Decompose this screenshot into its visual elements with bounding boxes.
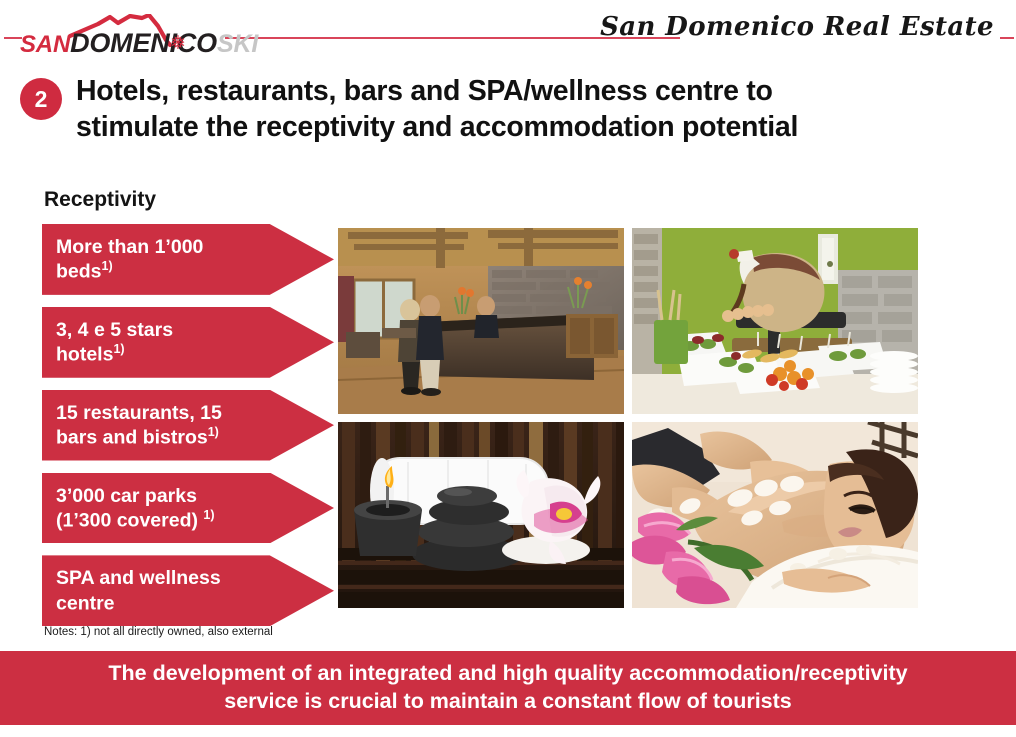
logo-wordmark: SANDOMENICOSKI <box>20 30 258 57</box>
page-title: Hotels, restaurants, bars and SPA/wellne… <box>76 74 998 146</box>
buffet-catering-photo <box>632 228 918 414</box>
banner-footnote-marker: 1) <box>203 508 214 522</box>
brand-title: San Domenico Real Estate <box>600 12 994 42</box>
banner-line-1: SPA and wellness <box>56 566 291 590</box>
banner-item[interactable]: More than 1’000 beds1) <box>42 224 334 295</box>
footer-message: The development of an integrated and hig… <box>28 660 988 716</box>
banner-line-2: hotels1) <box>56 342 291 367</box>
banner-line-2: (1’300 covered) 1) <box>56 508 291 533</box>
slide-footer-banner: The development of an integrated and hig… <box>0 651 1016 725</box>
footer-line-2: service is crucial to maintain a constan… <box>28 688 988 716</box>
slide: SANDOMENICOSKI ❅ San Domenico Real Estat… <box>0 0 1016 737</box>
banner-line-2: centre <box>56 591 291 616</box>
footer-line-1: The development of an integrated and hig… <box>28 660 988 688</box>
banner-line-2: beds1) <box>56 259 291 284</box>
banner-footnote-marker: 1) <box>102 259 113 273</box>
slide-number-badge: 2 <box>20 78 62 120</box>
banner-item[interactable]: 3’000 car parks (1’300 covered) 1) <box>42 473 334 544</box>
banner-item[interactable]: 3, 4 e 5 stars hotels1) <box>42 307 334 378</box>
header-rule-right <box>1000 37 1014 39</box>
logo-san: SAN <box>20 31 70 58</box>
banner-line-2: bars and bistros1) <box>56 425 291 450</box>
massage-treatment-photo <box>632 422 918 608</box>
banner-footnote-marker: 1) <box>208 425 219 439</box>
section-heading: Receptivity <box>44 188 156 212</box>
banner-item[interactable]: SPA and wellness centre <box>42 555 334 626</box>
banner-footnote-marker: 1) <box>113 342 124 356</box>
banner-line-1: More than 1’000 <box>56 235 291 259</box>
slide-header: SANDOMENICOSKI ❅ San Domenico Real Estat… <box>0 0 1016 62</box>
logo-ski: SKI <box>217 30 258 58</box>
title-block: 2 Hotels, restaurants, bars and SPA/well… <box>18 74 998 146</box>
hotel-reception-photo <box>338 228 624 414</box>
photo-grid <box>338 228 918 614</box>
title-line-2: stimulate the receptivity and accommodat… <box>76 110 998 146</box>
banner-item[interactable]: 15 restaurants, 15 bars and bistros1) <box>42 390 334 461</box>
title-line-1: Hotels, restaurants, bars and SPA/wellne… <box>76 74 998 110</box>
snowflake-icon: ❅ <box>170 34 186 53</box>
sandomenico-ski-logo[interactable]: SANDOMENICOSKI ❅ <box>18 14 223 54</box>
banner-line-1: 15 restaurants, 15 <box>56 401 291 425</box>
receptivity-banner-list: More than 1’000 beds1) 3, 4 e 5 stars ho… <box>42 224 334 638</box>
banner-line-1: 3’000 car parks <box>56 484 291 508</box>
footnote-text: Notes: 1) not all directly owned, also e… <box>44 626 273 638</box>
banner-line-1: 3, 4 e 5 stars <box>56 318 291 342</box>
logo-domenico: DOMENICO <box>70 28 217 58</box>
spa-stones-photo <box>338 422 624 608</box>
